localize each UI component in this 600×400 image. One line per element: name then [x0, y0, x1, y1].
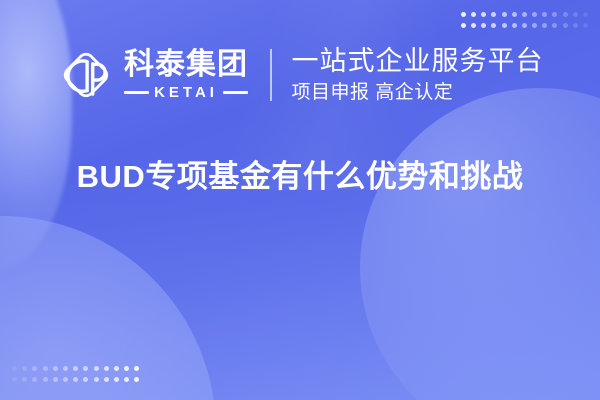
- header-divider: [270, 49, 272, 101]
- ketai-rhombus-kp-monogram-icon: [58, 47, 114, 103]
- dot: [104, 377, 109, 382]
- dot: [532, 12, 537, 17]
- dot: [114, 377, 119, 382]
- dot: [43, 377, 48, 382]
- dot-row: [461, 23, 588, 28]
- dot-grid-bottom-left: [12, 366, 139, 382]
- dot: [94, 366, 99, 371]
- dot: [134, 377, 139, 382]
- left-light-band-shape: [0, 0, 72, 270]
- dot: [573, 23, 578, 28]
- dot: [563, 23, 568, 28]
- dot: [63, 377, 68, 382]
- page-title: BUD专项基金有什么优势和挑战: [0, 158, 600, 195]
- dot: [124, 366, 129, 371]
- dot: [542, 23, 547, 28]
- logo-rule-left: [124, 91, 149, 94]
- dot: [63, 366, 68, 371]
- tagline-secondary: 项目申报 高企认定: [292, 82, 544, 104]
- dot: [94, 377, 99, 382]
- dot: [461, 12, 466, 17]
- dot: [522, 23, 527, 28]
- dot: [124, 377, 129, 382]
- dot: [573, 12, 578, 17]
- logo-wordmark: 科泰集团 KETAI: [124, 50, 248, 100]
- dot: [481, 12, 486, 17]
- dot: [491, 12, 496, 17]
- dot: [43, 366, 48, 371]
- dot: [471, 23, 476, 28]
- dot: [83, 377, 88, 382]
- dot: [461, 23, 466, 28]
- dot: [22, 366, 27, 371]
- dot: [532, 23, 537, 28]
- logo-english-row: KETAI: [124, 85, 248, 100]
- dot: [114, 366, 119, 371]
- promo-banner: 科泰集团 KETAI 一站式企业服务平台 项目申报 高企认定 BUD专项基金有什…: [0, 0, 600, 400]
- dot: [134, 366, 139, 371]
- logo-lockup[interactable]: 科泰集团 KETAI: [58, 47, 248, 103]
- dot-grid-top-right: [461, 12, 588, 28]
- logo-company-name-en: KETAI: [154, 85, 218, 100]
- dot: [491, 23, 496, 28]
- dot: [22, 377, 27, 382]
- tagline-primary: 一站式企业服务平台: [292, 47, 544, 76]
- dot: [552, 23, 557, 28]
- dot: [12, 377, 17, 382]
- dot: [542, 12, 547, 17]
- dot: [73, 366, 78, 371]
- dot: [502, 12, 507, 17]
- dot: [83, 366, 88, 371]
- dot: [32, 377, 37, 382]
- dot: [502, 23, 507, 28]
- tagline-block: 一站式企业服务平台 项目申报 高企认定: [292, 47, 544, 104]
- dot: [583, 23, 588, 28]
- logo-company-name-cn: 科泰集团: [124, 50, 248, 80]
- dot: [12, 366, 17, 371]
- dot: [512, 23, 517, 28]
- dot-row: [12, 366, 139, 371]
- dot: [512, 12, 517, 17]
- logo-rule-right: [223, 91, 248, 94]
- dot: [583, 12, 588, 17]
- dot: [522, 12, 527, 17]
- dot-row: [12, 377, 139, 382]
- dot: [552, 12, 557, 17]
- dot: [471, 12, 476, 17]
- dot: [563, 12, 568, 17]
- right-circle-shape: [360, 88, 600, 400]
- dot: [481, 23, 486, 28]
- brand-header-row: 科泰集团 KETAI 一站式企业服务平台 项目申报 高企认定: [58, 42, 544, 108]
- dot-row: [461, 12, 588, 17]
- dot: [32, 366, 37, 371]
- dot: [53, 366, 58, 371]
- dot: [73, 377, 78, 382]
- dot: [53, 377, 58, 382]
- dot: [104, 366, 109, 371]
